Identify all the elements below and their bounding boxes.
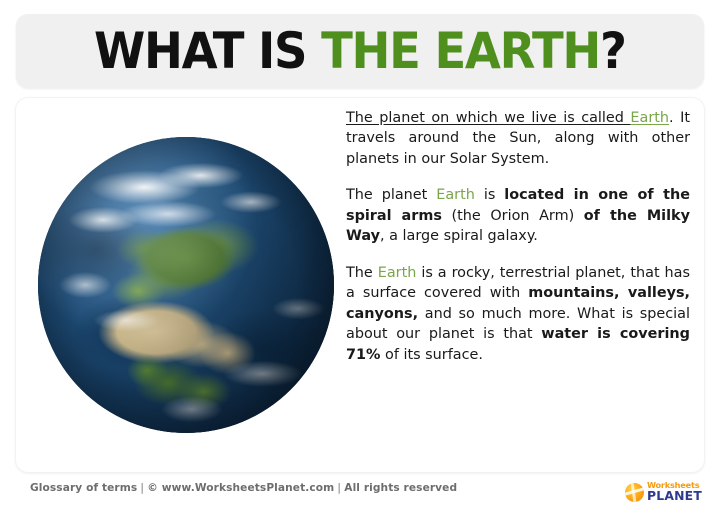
- title-part-what-is: WHAT IS: [94, 22, 321, 80]
- worksheets-planet-logo[interactable]: Worksheets PLANET: [625, 478, 702, 506]
- content-card: The planet on which we live is called Ea…: [16, 98, 704, 472]
- footer-separator-1: |: [137, 482, 147, 494]
- surface-tail-text: of its surface.: [380, 347, 483, 363]
- paragraph-surface: The Earth is a rocky, terrestrial planet…: [346, 263, 690, 365]
- footer-website-link[interactable]: www.WorksheetsPlanet.com: [162, 482, 335, 494]
- logo-wordmark: Worksheets PLANET: [647, 481, 702, 503]
- footer-rights-label: All rights reserved: [344, 482, 457, 494]
- location-earth-keyword: Earth: [436, 187, 475, 203]
- location-lead-text: The planet: [346, 187, 436, 203]
- location-is-text: is: [475, 187, 504, 203]
- worksheet-page: WHAT IS THE EARTH? The planet on which w…: [0, 0, 720, 509]
- page-title: WHAT IS THE EARTH?: [94, 26, 626, 76]
- earth-image-pane: [26, 106, 346, 464]
- logo-bottom-word: PLANET: [647, 490, 702, 502]
- title-card: WHAT IS THE EARTH?: [16, 14, 704, 88]
- footer-credits: Glossary of terms|© www.WorksheetsPlanet…: [30, 482, 457, 494]
- copyright-icon: ©: [147, 482, 158, 494]
- footer-separator-2: |: [334, 482, 344, 494]
- surface-earth-keyword: Earth: [378, 265, 417, 281]
- location-orion-arm-text: (the Orion Arm): [442, 208, 584, 224]
- location-tail-text: , a large spiral galaxy.: [380, 228, 538, 244]
- title-part-the-earth: THE EARTH: [321, 22, 600, 80]
- surface-lead-text: The: [346, 265, 378, 281]
- earth-globe-icon: [38, 137, 334, 433]
- definition-lead-text: The planet on which we live is called: [346, 110, 630, 126]
- footer-glossary-label[interactable]: Glossary of terms: [30, 482, 137, 494]
- globe-shading-layer: [38, 137, 334, 433]
- planet-globe-logo-icon: [625, 483, 644, 502]
- description-text: The planet on which we live is called Ea…: [346, 108, 694, 462]
- definition-earth-keyword: Earth: [630, 110, 669, 126]
- title-part-question-mark: ?: [600, 22, 626, 80]
- paragraph-definition: The planet on which we live is called Ea…: [346, 108, 690, 169]
- paragraph-location: The planet Earth is located in one of th…: [346, 185, 690, 246]
- page-footer: Glossary of terms|© www.WorksheetsPlanet…: [0, 478, 720, 509]
